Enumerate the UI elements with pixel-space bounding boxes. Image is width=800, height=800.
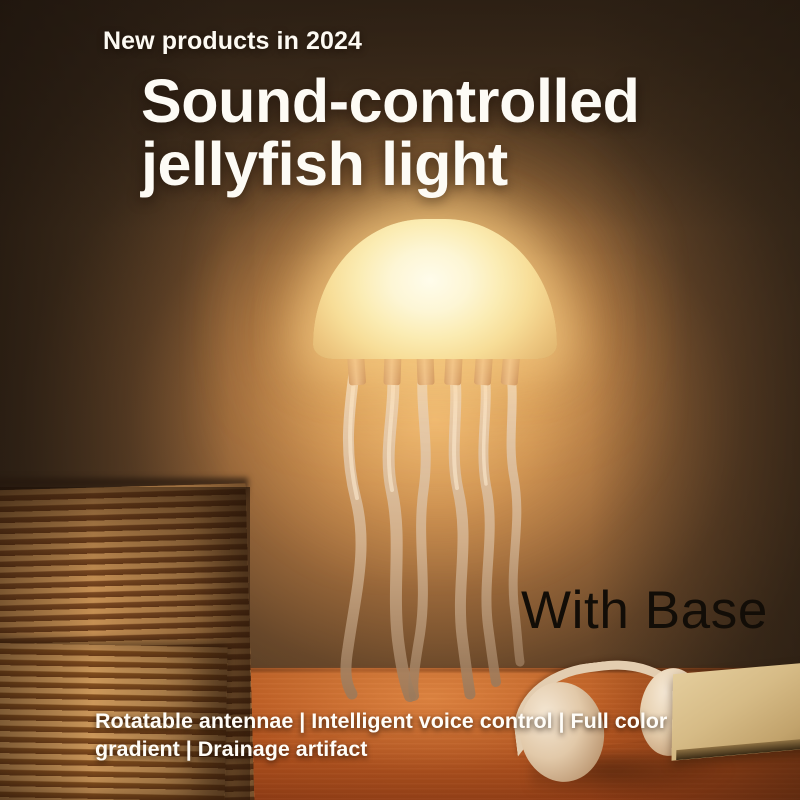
page-title: Sound-controlled jellyfish light: [141, 70, 761, 197]
feature-list-text: Rotatable antennae | Intelligent voice c…: [95, 708, 745, 763]
with-base-badge: With Base: [521, 580, 768, 641]
eyebrow-text: New products in 2024: [103, 27, 362, 56]
headline-line-2: jellyfish light: [141, 133, 761, 196]
headline-line-1: Sound-controlled: [141, 70, 761, 133]
product-advertisement: New products in 2024 Sound-controlled je…: [0, 0, 800, 800]
